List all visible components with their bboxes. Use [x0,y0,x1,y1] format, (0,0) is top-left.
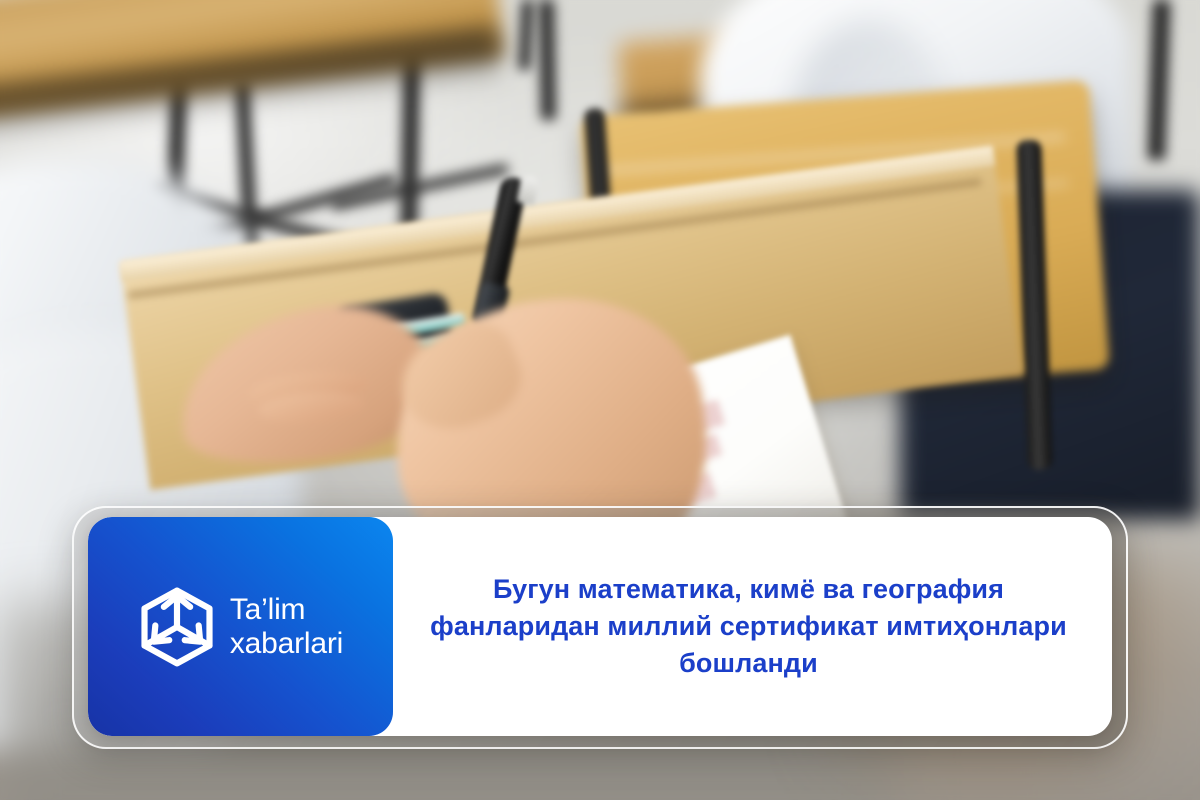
banner-headline: Бугун математика, кимё ва география фанл… [429,571,1069,683]
banner-card: Ta’lim xabarlari Бугун математика, кимё … [88,517,1112,736]
brand-logo-panel[interactable]: Ta’lim xabarlari [88,517,393,736]
cube-arrows-icon [138,586,216,668]
headline-area: Бугун математика, кимё ва география фанл… [393,517,1112,736]
brand-wordmark: Ta’lim xabarlari [230,593,343,660]
chair-leg [539,0,556,120]
screenshot-root: Ta’lim xabarlari Бугун математика, кимё … [0,0,1200,800]
